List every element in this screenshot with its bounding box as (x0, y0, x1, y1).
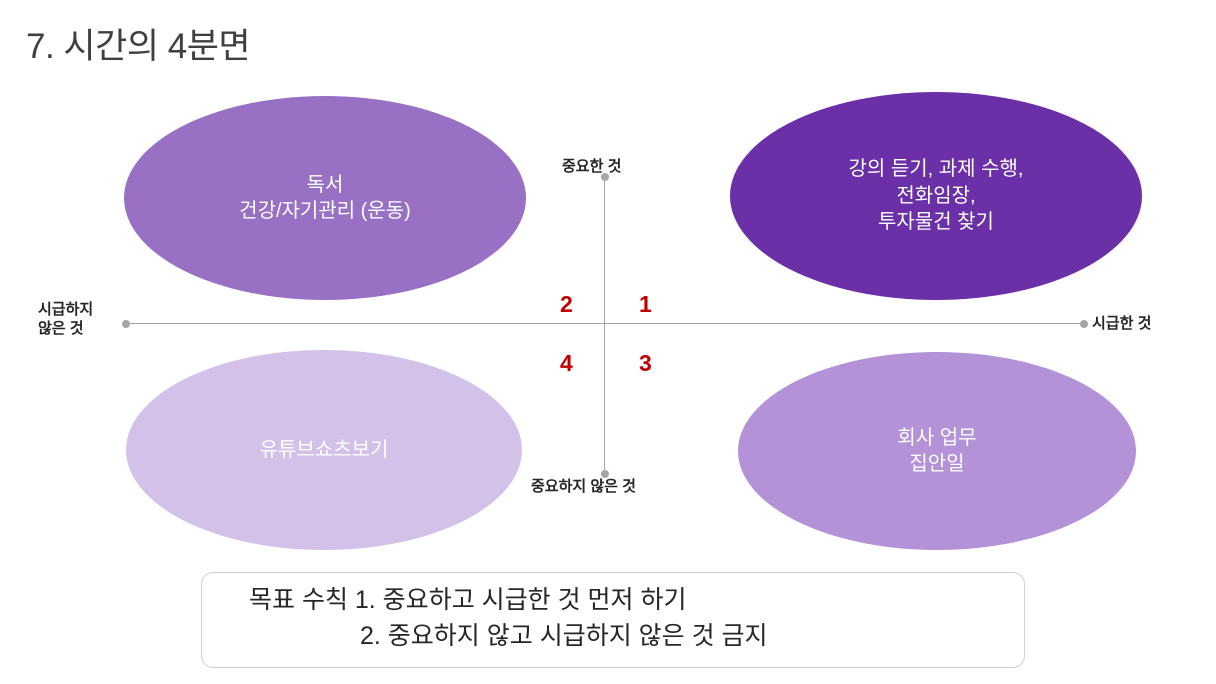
vertical-axis-line (604, 176, 605, 474)
quadrant-ellipse-4[interactable]: 유튜브쇼츠보기 (126, 350, 522, 550)
goal-rules-box: 목표 수칙 1. 중요하고 시급한 것 먼저 하기 2. 중요하지 않고 시급하… (201, 572, 1025, 668)
quadrant-ellipse-1[interactable]: 강의 듣기, 과제 수행, 전화임장, 투자물건 찾기 (730, 92, 1142, 300)
axis-label-not-important: 중요하지 않은 것 (531, 478, 636, 497)
goal-rule-line-1: 목표 수칙 1. 중요하고 시급한 것 먼저 하기 (202, 583, 1024, 619)
quadrant-ellipse-2[interactable]: 독서 건강/자기관리 (운동) (124, 96, 526, 300)
axis-endpoint-dot-right (1080, 320, 1088, 328)
quadrant-number-4: 4 (560, 350, 573, 377)
axis-label-urgent: 시급한 것 (1092, 315, 1151, 334)
quadrant-number-2: 2 (560, 291, 573, 318)
quadrant-number-3: 3 (639, 350, 652, 377)
horizontal-axis-line (126, 323, 1084, 324)
quadrant-diagram: 독서 건강/자기관리 (운동) 강의 듣기, 과제 수행, 전화임장, 투자물건… (0, 0, 1216, 568)
goal-rule-line-2: 2. 중요하지 않고 시급하지 않은 것 금지 (202, 619, 1024, 655)
axis-endpoint-dot-bottom (601, 470, 609, 478)
axis-label-important: 중요한 것 (562, 158, 621, 177)
quadrant-number-1: 1 (639, 291, 652, 318)
quadrant-ellipse-3[interactable]: 회사 업무 집안일 (738, 352, 1136, 550)
axis-label-not-urgent: 시급하지 않은 것 (38, 301, 93, 339)
axis-endpoint-dot-left (122, 320, 130, 328)
